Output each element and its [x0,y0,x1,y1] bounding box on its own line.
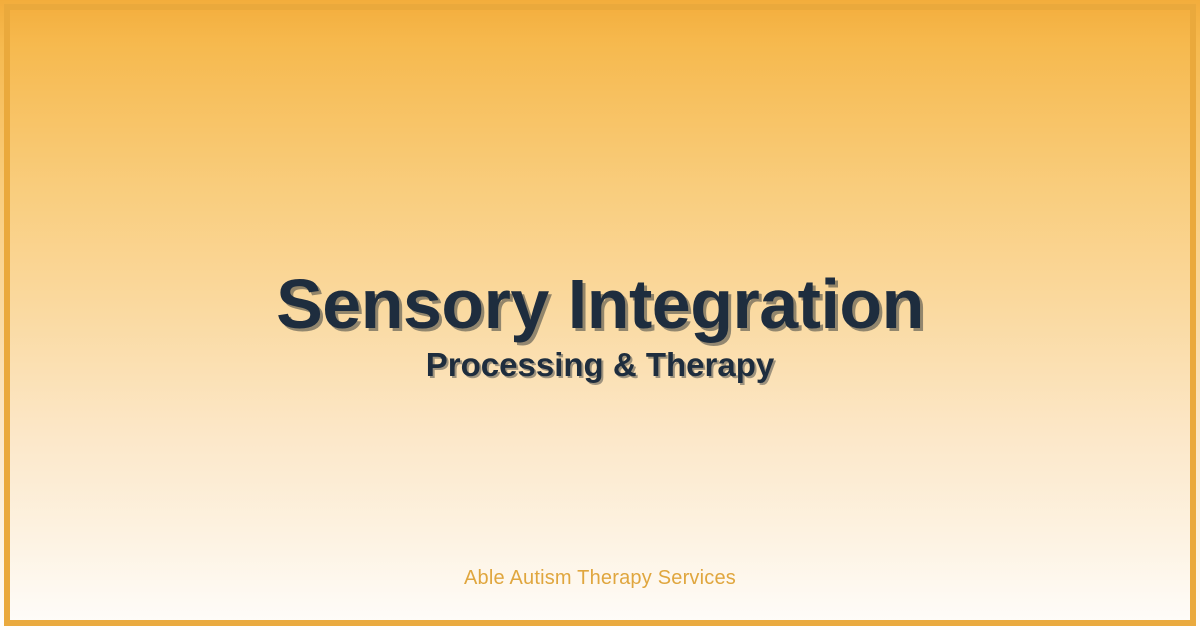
page-subtitle: Processing & Therapy [0,347,1200,383]
page-title: Sensory Integration [0,269,1200,339]
title-slide: Sensory Integration Processing & Therapy… [0,0,1200,630]
footer-brand-label: Able Autism Therapy Services [0,567,1200,590]
slide-content: Sensory Integration Processing & Therapy… [0,0,1200,630]
